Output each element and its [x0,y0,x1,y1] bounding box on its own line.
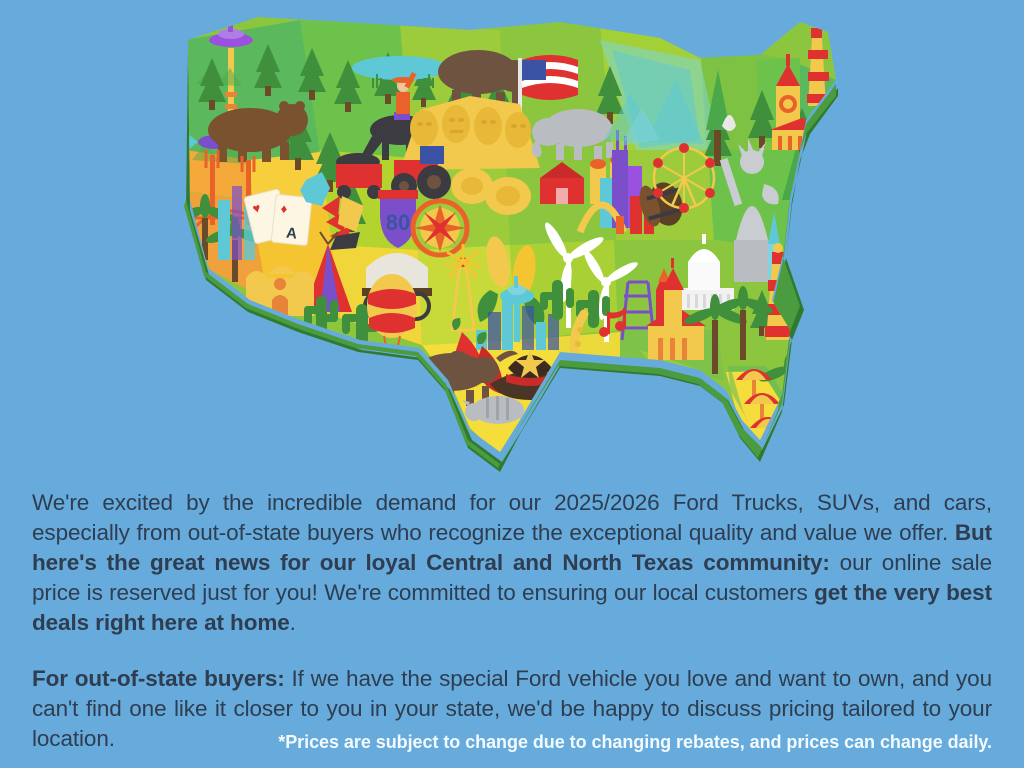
price-disclaimer-footnote: *Prices are subject to change due to cha… [0,730,1024,754]
usa-map-illustration: ♥ ♥ ♦ A [0,0,1024,480]
copy-segment: . [290,610,296,635]
page-root: ♥ ♥ ♦ A [0,0,1024,768]
usa-map-svg: ♥ ♥ ♦ A [0,0,1024,480]
copy-segment: We're excited by the incredible demand f… [32,490,992,545]
paragraph-local-buyers: We're excited by the incredible demand f… [32,488,992,638]
playing-cards-icon: ♥ ♥ ♦ A [244,189,312,246]
copy-bold-out-of-state: For out-of-state buyers: [32,666,285,691]
svg-text:80: 80 [386,210,410,235]
compass-rose-icon [413,201,467,255]
dealer-pricing-copy: We're excited by the incredible demand f… [0,488,1024,754]
svg-text:A: A [285,225,298,243]
